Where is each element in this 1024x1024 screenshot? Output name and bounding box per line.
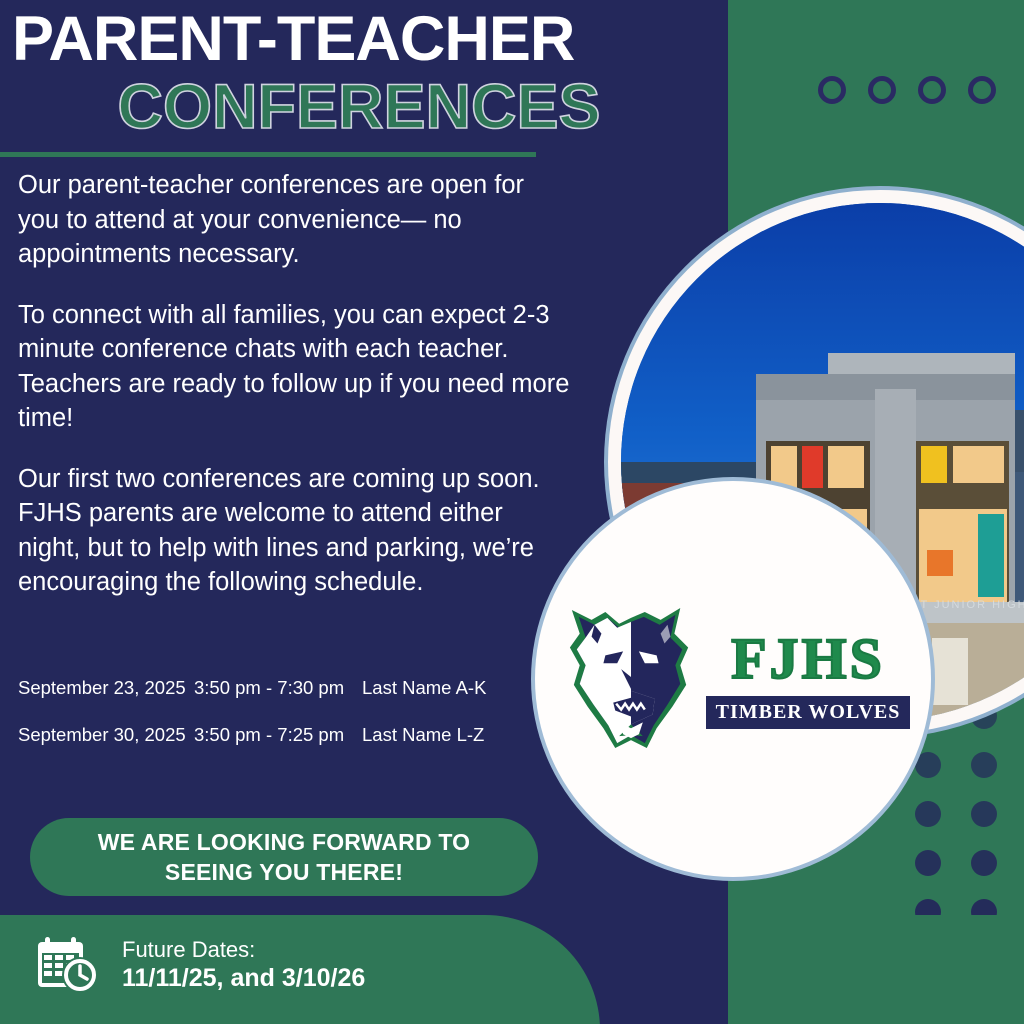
- ring-icon: [818, 76, 846, 104]
- ring-icon: [968, 76, 996, 104]
- schedule-names: Last Name L-Z: [362, 723, 578, 747]
- page-title: PARENT-TEACHER CONFERENCES: [12, 6, 712, 142]
- footer: Future Dates: 11/11/25, and 3/10/26: [36, 933, 365, 995]
- cta-text: WE ARE LOOKING FORWARD TO SEEING YOU THE…: [98, 827, 471, 887]
- decorative-rings: [818, 76, 996, 104]
- mascot-name: TIMBER WOLVES: [716, 701, 901, 723]
- fjhs-logo-circle: FJHS TIMBER WOLVES: [531, 477, 935, 881]
- future-dates-label: Future Dates:: [122, 936, 365, 963]
- ring-icon: [868, 76, 896, 104]
- window-lit: [828, 446, 864, 487]
- paragraph: To connect with all families, you can ex…: [18, 298, 570, 436]
- interior-teal: [978, 514, 1004, 597]
- mascot-name-bar: TIMBER WOLVES: [706, 696, 911, 729]
- title-line-1: PARENT-TEACHER: [12, 6, 712, 72]
- calendar-clock-icon: [36, 933, 102, 995]
- schedule-date: September 30, 2025: [18, 723, 194, 747]
- future-dates-value: 11/11/25, and 3/10/26: [122, 963, 365, 993]
- window-lit: [953, 446, 1005, 482]
- schedule-names: Last Name A-K: [362, 676, 578, 700]
- interior-accent: [927, 550, 953, 576]
- poster-canvas: FULBRIGHT JUNIOR HIGH: [0, 0, 1024, 1024]
- entry-door: [932, 638, 968, 705]
- logo-text-block: FJHS TIMBER WOLVES: [706, 630, 911, 729]
- footer-band-right: [728, 915, 1024, 1024]
- logo-initials: FJHS: [731, 630, 885, 688]
- footer-text: Future Dates: 11/11/25, and 3/10/26: [122, 936, 365, 993]
- conference-schedule: September 23, 2025 3:50 pm - 7:30 pm Las…: [18, 676, 578, 770]
- title-underline: [0, 152, 536, 157]
- cta-line-2: SEEING YOU THERE!: [98, 857, 471, 887]
- cta-line-1: WE ARE LOOKING FORWARD TO: [98, 827, 471, 857]
- schedule-row: September 30, 2025 3:50 pm - 7:25 pm Las…: [18, 723, 578, 747]
- ring-icon: [918, 76, 946, 104]
- schedule-time: 3:50 pm - 7:25 pm: [194, 723, 362, 747]
- logo-inner: FJHS TIMBER WOLVES: [535, 481, 931, 877]
- paragraph: Our parent-teacher conferences are open …: [18, 168, 570, 272]
- schedule-time: 3:50 pm - 7:30 pm: [194, 676, 362, 700]
- schedule-date: September 23, 2025: [18, 676, 194, 700]
- window-red: [802, 446, 823, 487]
- body-copy: Our parent-teacher conferences are open …: [18, 168, 570, 600]
- schedule-row: September 23, 2025 3:50 pm - 7:30 pm Las…: [18, 676, 578, 700]
- call-to-action-banner: WE ARE LOOKING FORWARD TO SEEING YOU THE…: [30, 818, 538, 896]
- title-line-2: CONFERENCES: [12, 72, 712, 142]
- wolf-head-icon: [562, 604, 700, 754]
- window-yellow: [921, 446, 947, 482]
- paragraph: Our first two conferences are coming up …: [18, 462, 570, 600]
